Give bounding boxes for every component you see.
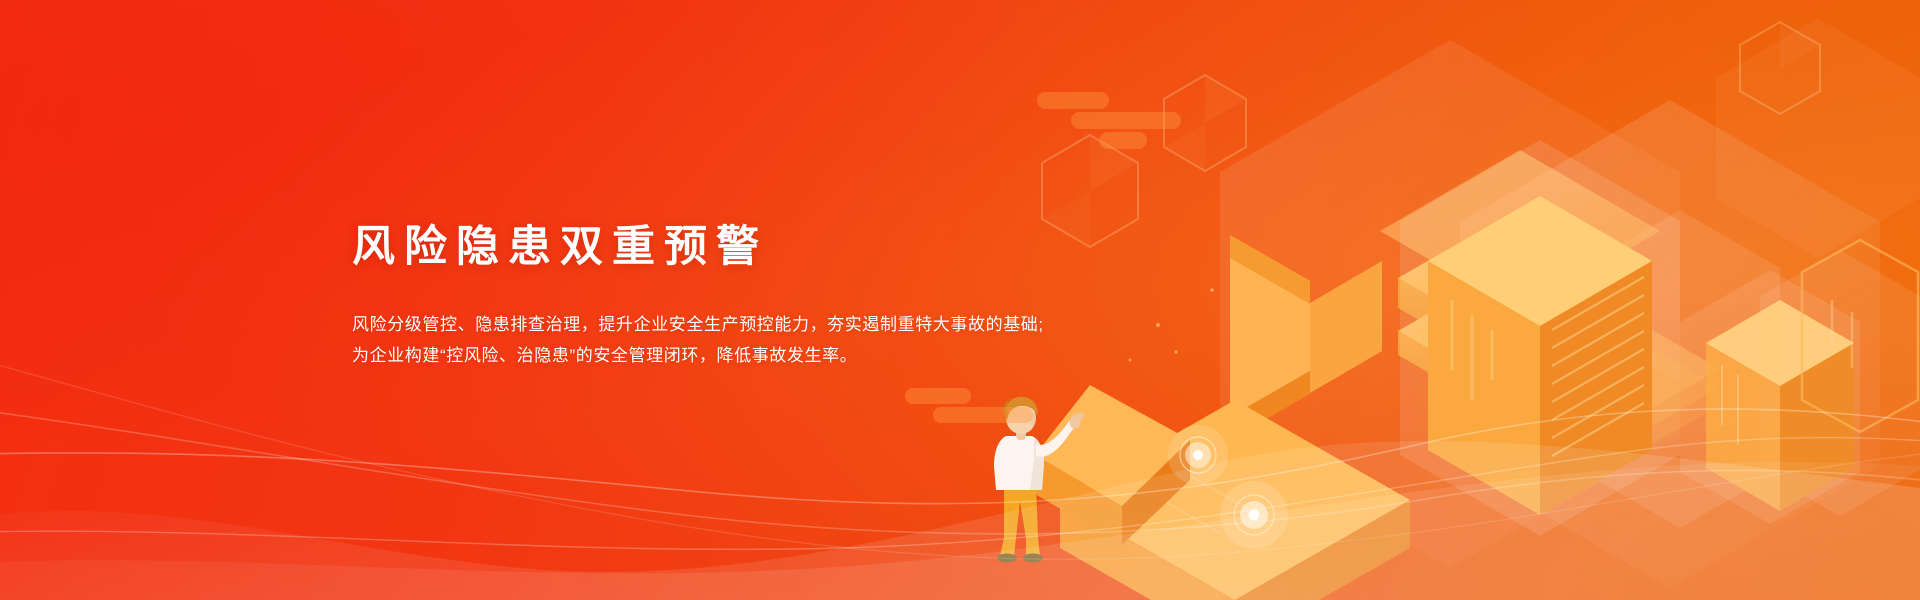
hero-illustration bbox=[980, 0, 1920, 600]
page-title: 风险隐患双重预警 bbox=[352, 222, 1052, 273]
glow-dot-group bbox=[1168, 425, 1288, 549]
person-pointing bbox=[994, 397, 1084, 563]
isometric-server-blocks-graphic bbox=[980, 0, 1920, 600]
chevron-block bbox=[1230, 235, 1382, 440]
hero-copy: 风险隐患双重预警 风险分级管控、隐患排查治理，提升企业安全生产预控能力，夯实遏制… bbox=[352, 222, 1052, 371]
wave-line-4 bbox=[0, 360, 1920, 559]
hex-cube-outline-small bbox=[1042, 22, 1820, 247]
hex-cube-outline bbox=[1220, 18, 1920, 588]
server-tower-center bbox=[1400, 140, 1680, 536]
hero-subtitle-line-1: 风险分级管控、隐患排查治理，提升企业安全生产预控能力，夯实遏制重特大事故的基础; bbox=[352, 309, 1052, 340]
wave-line-1 bbox=[0, 409, 1920, 504]
server-tower-right bbox=[1680, 270, 1860, 524]
hero-subtitle: 风险分级管控、隐患排查治理，提升企业安全生产预控能力，夯实遏制重特大事故的基础;… bbox=[352, 309, 1052, 371]
stacked-slabs bbox=[1380, 150, 1720, 474]
wave-fill-secondary bbox=[0, 462, 1920, 600]
server-tower-back-right bbox=[1580, 210, 1920, 528]
small-box-foreground bbox=[1035, 385, 1190, 545]
wave-fill-primary bbox=[0, 441, 1920, 600]
base-block-large bbox=[1060, 400, 1410, 600]
wave-line-3 bbox=[0, 438, 1920, 550]
outlined-panel-right bbox=[1802, 240, 1918, 432]
wave-line-2 bbox=[0, 410, 1920, 534]
hero-banner: 风险隐患双重预警 风险分级管控、隐患排查治理，提升企业安全生产预控能力，夯实遏制… bbox=[0, 0, 1920, 600]
hero-subtitle-line-2: 为企业构建“控风险、治隐患”的安全管理闭环，降低事故发生率。 bbox=[352, 340, 1052, 371]
sparkle-dots bbox=[1129, 288, 1214, 361]
